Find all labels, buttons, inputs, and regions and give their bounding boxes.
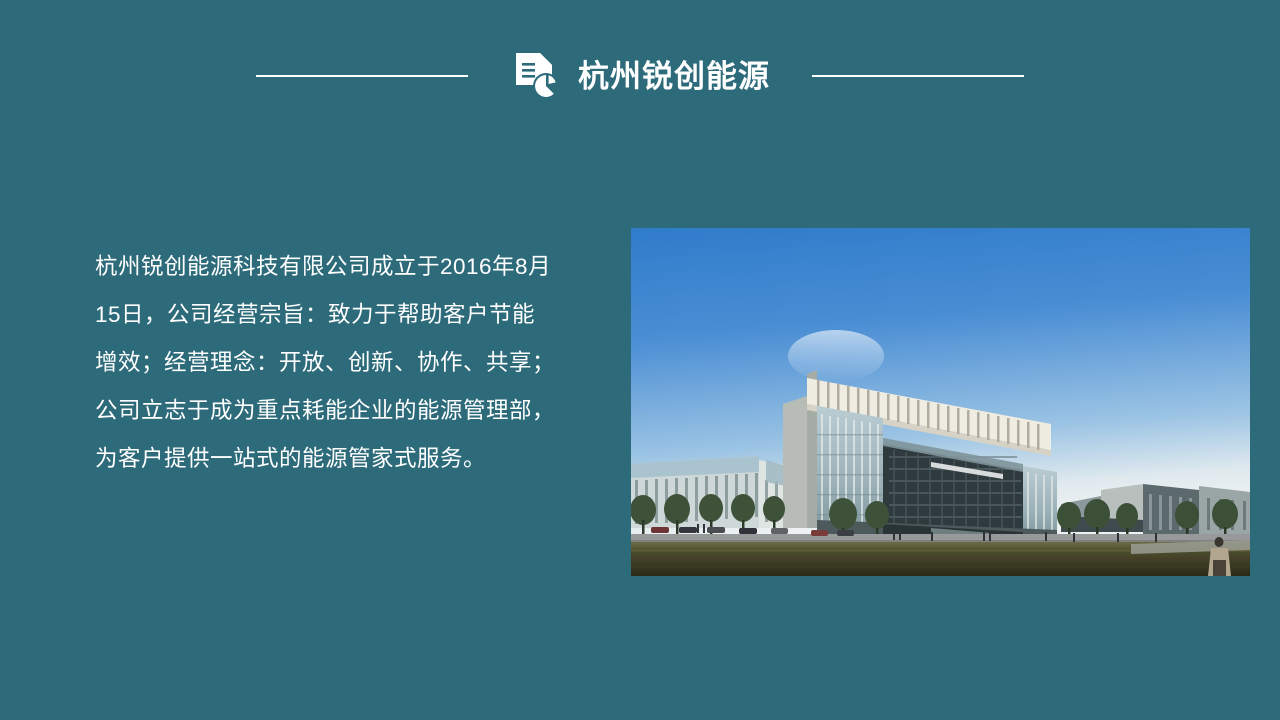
slide-root: 杭州锐创能源 杭州锐创能源科技有限公司成立于2016年8月 15日，公司经营宗旨… bbox=[0, 0, 1280, 720]
building-photo bbox=[631, 228, 1250, 576]
document-chart-icon bbox=[510, 49, 564, 103]
building-rendering-illustration bbox=[631, 228, 1250, 576]
header-rule-right bbox=[812, 75, 1024, 77]
description-line: 为客户提供一站式的能源管家式服务。 bbox=[95, 435, 595, 483]
slide-header: 杭州锐创能源 bbox=[0, 48, 1280, 104]
header-rule-left bbox=[256, 75, 468, 77]
description-line: 15日，公司经营宗旨：致力于帮助客户节能 bbox=[95, 291, 595, 339]
description-line: 杭州锐创能源科技有限公司成立于2016年8月 bbox=[95, 243, 595, 291]
brand-lockup: 杭州锐创能源 bbox=[510, 49, 770, 103]
company-description: 杭州锐创能源科技有限公司成立于2016年8月 15日，公司经营宗旨：致力于帮助客… bbox=[95, 243, 595, 483]
description-line: 公司立志于成为重点耗能企业的能源管理部， bbox=[95, 387, 595, 435]
description-line: 增效；经营理念：开放、创新、协作、共享； bbox=[95, 339, 595, 387]
brand-title: 杭州锐创能源 bbox=[578, 61, 770, 92]
